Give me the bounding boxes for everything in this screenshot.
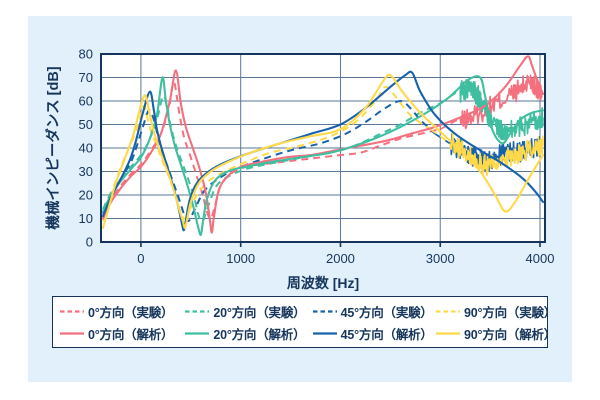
legend-swatch-dashed-icon bbox=[184, 306, 210, 317]
y-tick-label: 50 bbox=[79, 117, 93, 132]
legend-90deg-analysis[interactable]: 90°方向（解析） bbox=[435, 324, 547, 343]
legend-0deg-analysis[interactable]: 0°方向（解析） bbox=[59, 324, 184, 343]
y-tick-label: 60 bbox=[79, 94, 93, 109]
legend-swatch-dashed-icon bbox=[59, 306, 85, 317]
x-tick-label: 4000 bbox=[526, 251, 555, 266]
legend-row: 0°方向（解析）20°方向（解析）45°方向（解析）90°方向（解析） bbox=[53, 322, 547, 344]
y-tick-label: 80 bbox=[79, 47, 93, 62]
legend-label: 0°方向（実験） bbox=[88, 302, 173, 321]
legend-45deg-experiment[interactable]: 45°方向（実験） bbox=[312, 302, 435, 321]
legend-20deg-analysis[interactable]: 20°方向（解析） bbox=[184, 324, 311, 343]
legend-label: 0°方向（解析） bbox=[88, 324, 173, 343]
x-tick-label: 3000 bbox=[426, 251, 455, 266]
legend-swatch-solid-icon bbox=[184, 328, 210, 339]
legend-swatch-solid-icon bbox=[59, 328, 85, 339]
y-tick-label: 40 bbox=[79, 141, 93, 156]
legend-label: 20°方向（実験） bbox=[213, 302, 305, 321]
legend-label: 45°方向（実験） bbox=[341, 302, 433, 321]
legend-90deg-experiment[interactable]: 90°方向（実験） bbox=[435, 302, 547, 321]
legend-label: 90°方向（解析） bbox=[464, 324, 556, 343]
x-tick-label: 2000 bbox=[326, 251, 355, 266]
legend-0deg-experiment[interactable]: 0°方向（実験） bbox=[59, 302, 184, 321]
legend-swatch-solid-icon bbox=[435, 328, 461, 339]
legend-45deg-analysis[interactable]: 45°方向（解析） bbox=[312, 324, 435, 343]
y-tick-label: 10 bbox=[79, 211, 93, 226]
x-tick-label: 1000 bbox=[226, 251, 255, 266]
legend-label: 90°方向（実験） bbox=[464, 302, 556, 321]
legend-swatch-solid-icon bbox=[312, 328, 338, 339]
y-tick-label: 70 bbox=[79, 70, 93, 85]
y-tick-label: 20 bbox=[79, 188, 93, 203]
x-axis-title: 周波数 [Hz] bbox=[287, 275, 359, 291]
legend-label: 20°方向（解析） bbox=[213, 324, 305, 343]
legend-label: 45°方向（解析） bbox=[341, 324, 433, 343]
y-tick-label: 0 bbox=[86, 235, 93, 250]
x-tick-label: 0 bbox=[137, 251, 144, 266]
y-tick-label: 30 bbox=[79, 164, 93, 179]
legend-20deg-experiment[interactable]: 20°方向（実験） bbox=[184, 302, 311, 321]
figure-panel: 0102030405060708001000200030004000周波数 [H… bbox=[28, 16, 572, 382]
legend-row: 0°方向（実験）20°方向（実験）45°方向（実験）90°方向（実験） bbox=[53, 300, 547, 322]
y-axis-title: 機械インピーダンス [dB] bbox=[44, 66, 62, 229]
legend-swatch-dashed-icon bbox=[312, 306, 338, 317]
legend-swatch-dashed-icon bbox=[435, 306, 461, 317]
chart-legend: 0°方向（実験）20°方向（実験）45°方向（実験）90°方向（実験）0°方向（… bbox=[52, 296, 548, 348]
